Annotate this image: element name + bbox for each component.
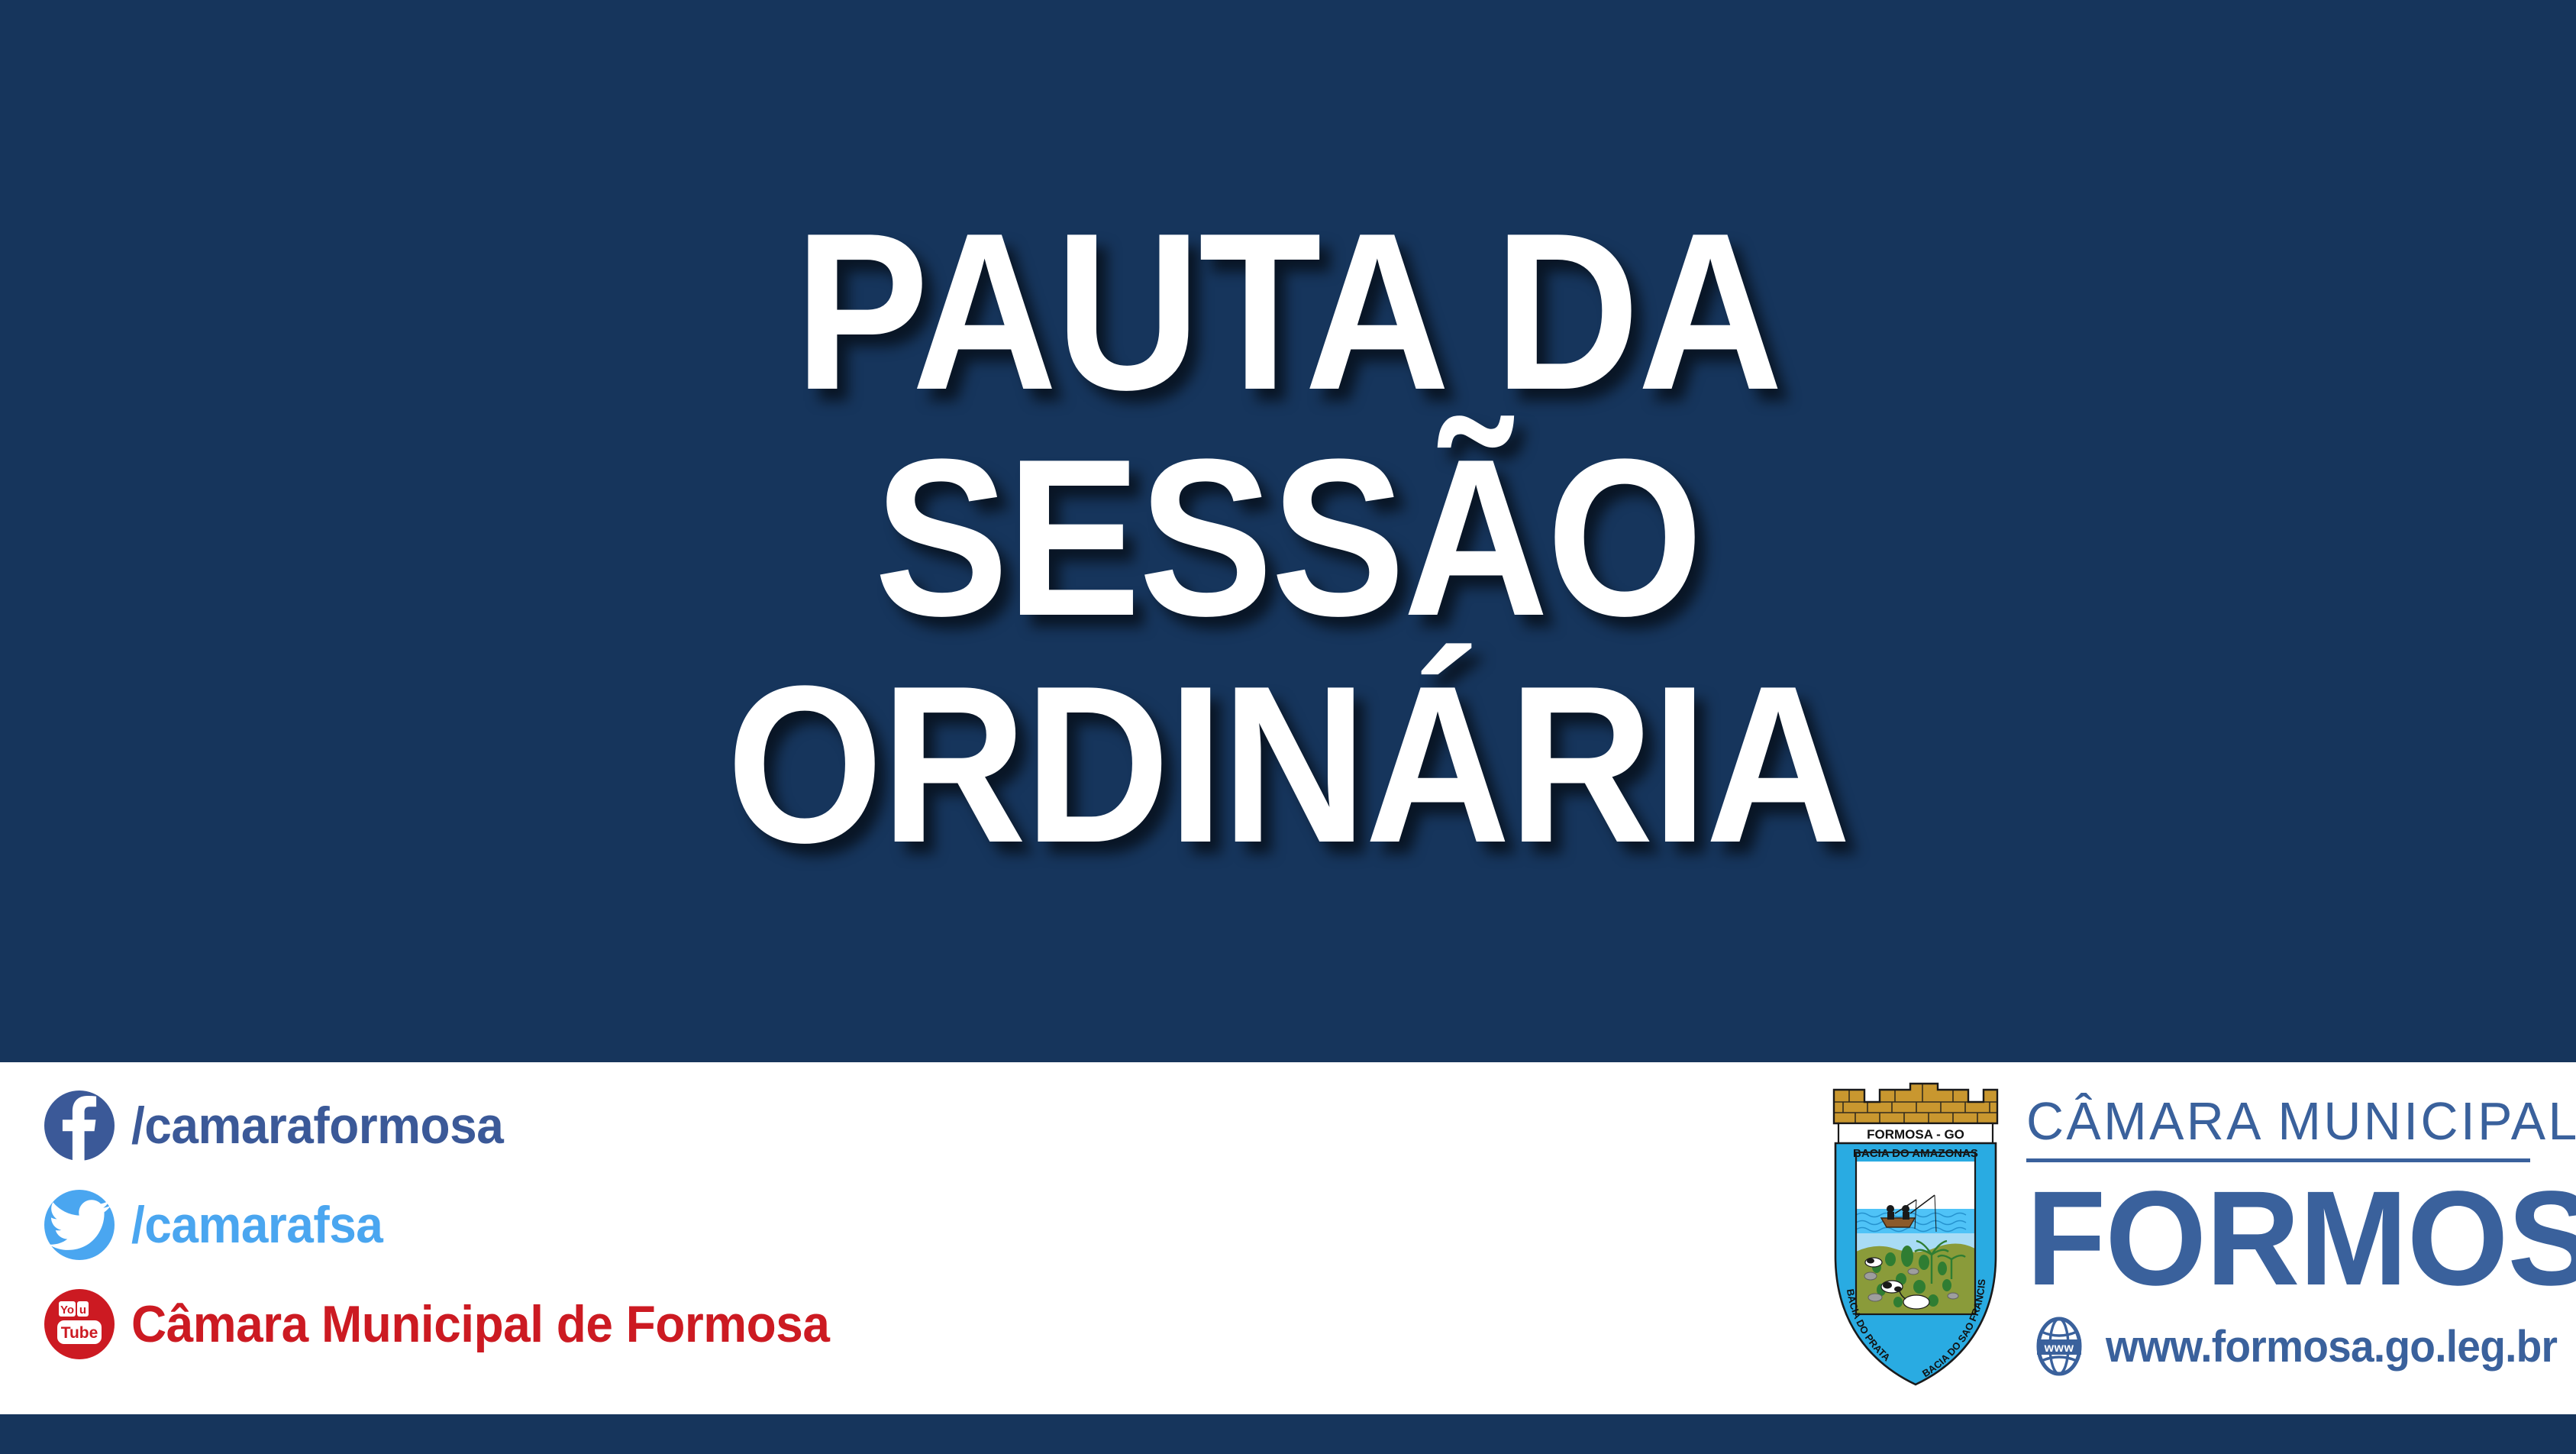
svg-text:www: www	[2044, 1342, 2074, 1355]
page-title: PAUTA DA SESSÃO ORDINÁRIA	[0, 0, 2576, 1062]
bottom-accent-strip	[0, 1414, 2576, 1454]
social-label-facebook: /camaraformosa	[131, 1096, 503, 1155]
brand-text-block: CÂMARA MUNICIPAL FORMOSA www www.formosa…	[2026, 1079, 2553, 1379]
svg-text:Yo: Yo	[60, 1304, 74, 1317]
svg-text:BACIA DO AMAZONAS: BACIA DO AMAZONAS	[1853, 1147, 1978, 1160]
brand-website-row[interactable]: www www.formosa.go.leg.br	[2026, 1313, 2553, 1379]
social-link-facebook[interactable]: /camaraformosa	[44, 1076, 1266, 1175]
title-line-2: SESSÃO	[875, 428, 1702, 649]
brand-line-camara-municipal: CÂMARA MUNICIPAL	[2026, 1094, 2537, 1148]
svg-text:u: u	[79, 1304, 86, 1317]
footer-band: /camaraformosa /camarafsa Yo u	[0, 1062, 2576, 1414]
social-link-youtube[interactable]: Yo u Tube Câmara Municipal de Formosa	[44, 1275, 1266, 1374]
formosa-coat-of-arms-icon: FORMOSA - GO BACIA DO AMAZONAS	[1831, 1079, 2000, 1391]
social-label-twitter: /camarafsa	[131, 1195, 383, 1255]
brand-divider	[2026, 1158, 2530, 1162]
twitter-icon	[44, 1190, 115, 1260]
title-line-3: ORDINÁRIA	[727, 654, 1849, 876]
brand-website-url[interactable]: www.formosa.go.leg.br	[2106, 1321, 2557, 1372]
www-globe-icon: www	[2026, 1313, 2092, 1379]
facebook-icon	[44, 1090, 115, 1161]
social-label-youtube: Câmara Municipal de Formosa	[131, 1294, 829, 1354]
title-line-1: PAUTA DA	[795, 202, 1781, 423]
svg-text:Tube: Tube	[61, 1324, 98, 1342]
svg-text:FORMOSA - GO: FORMOSA - GO	[1867, 1127, 1964, 1142]
hero-banner: PAUTA DA SESSÃO ORDINÁRIA	[0, 0, 2576, 1062]
institutional-logo: FORMOSA - GO BACIA DO AMAZONAS	[1831, 1079, 2564, 1407]
social-link-twitter[interactable]: /camarafsa	[44, 1175, 1266, 1275]
social-links-list: /camaraformosa /camarafsa Yo u	[44, 1076, 1266, 1374]
brand-line-formosa: FORMOSA	[2026, 1171, 2537, 1306]
youtube-icon: Yo u Tube	[44, 1289, 115, 1359]
